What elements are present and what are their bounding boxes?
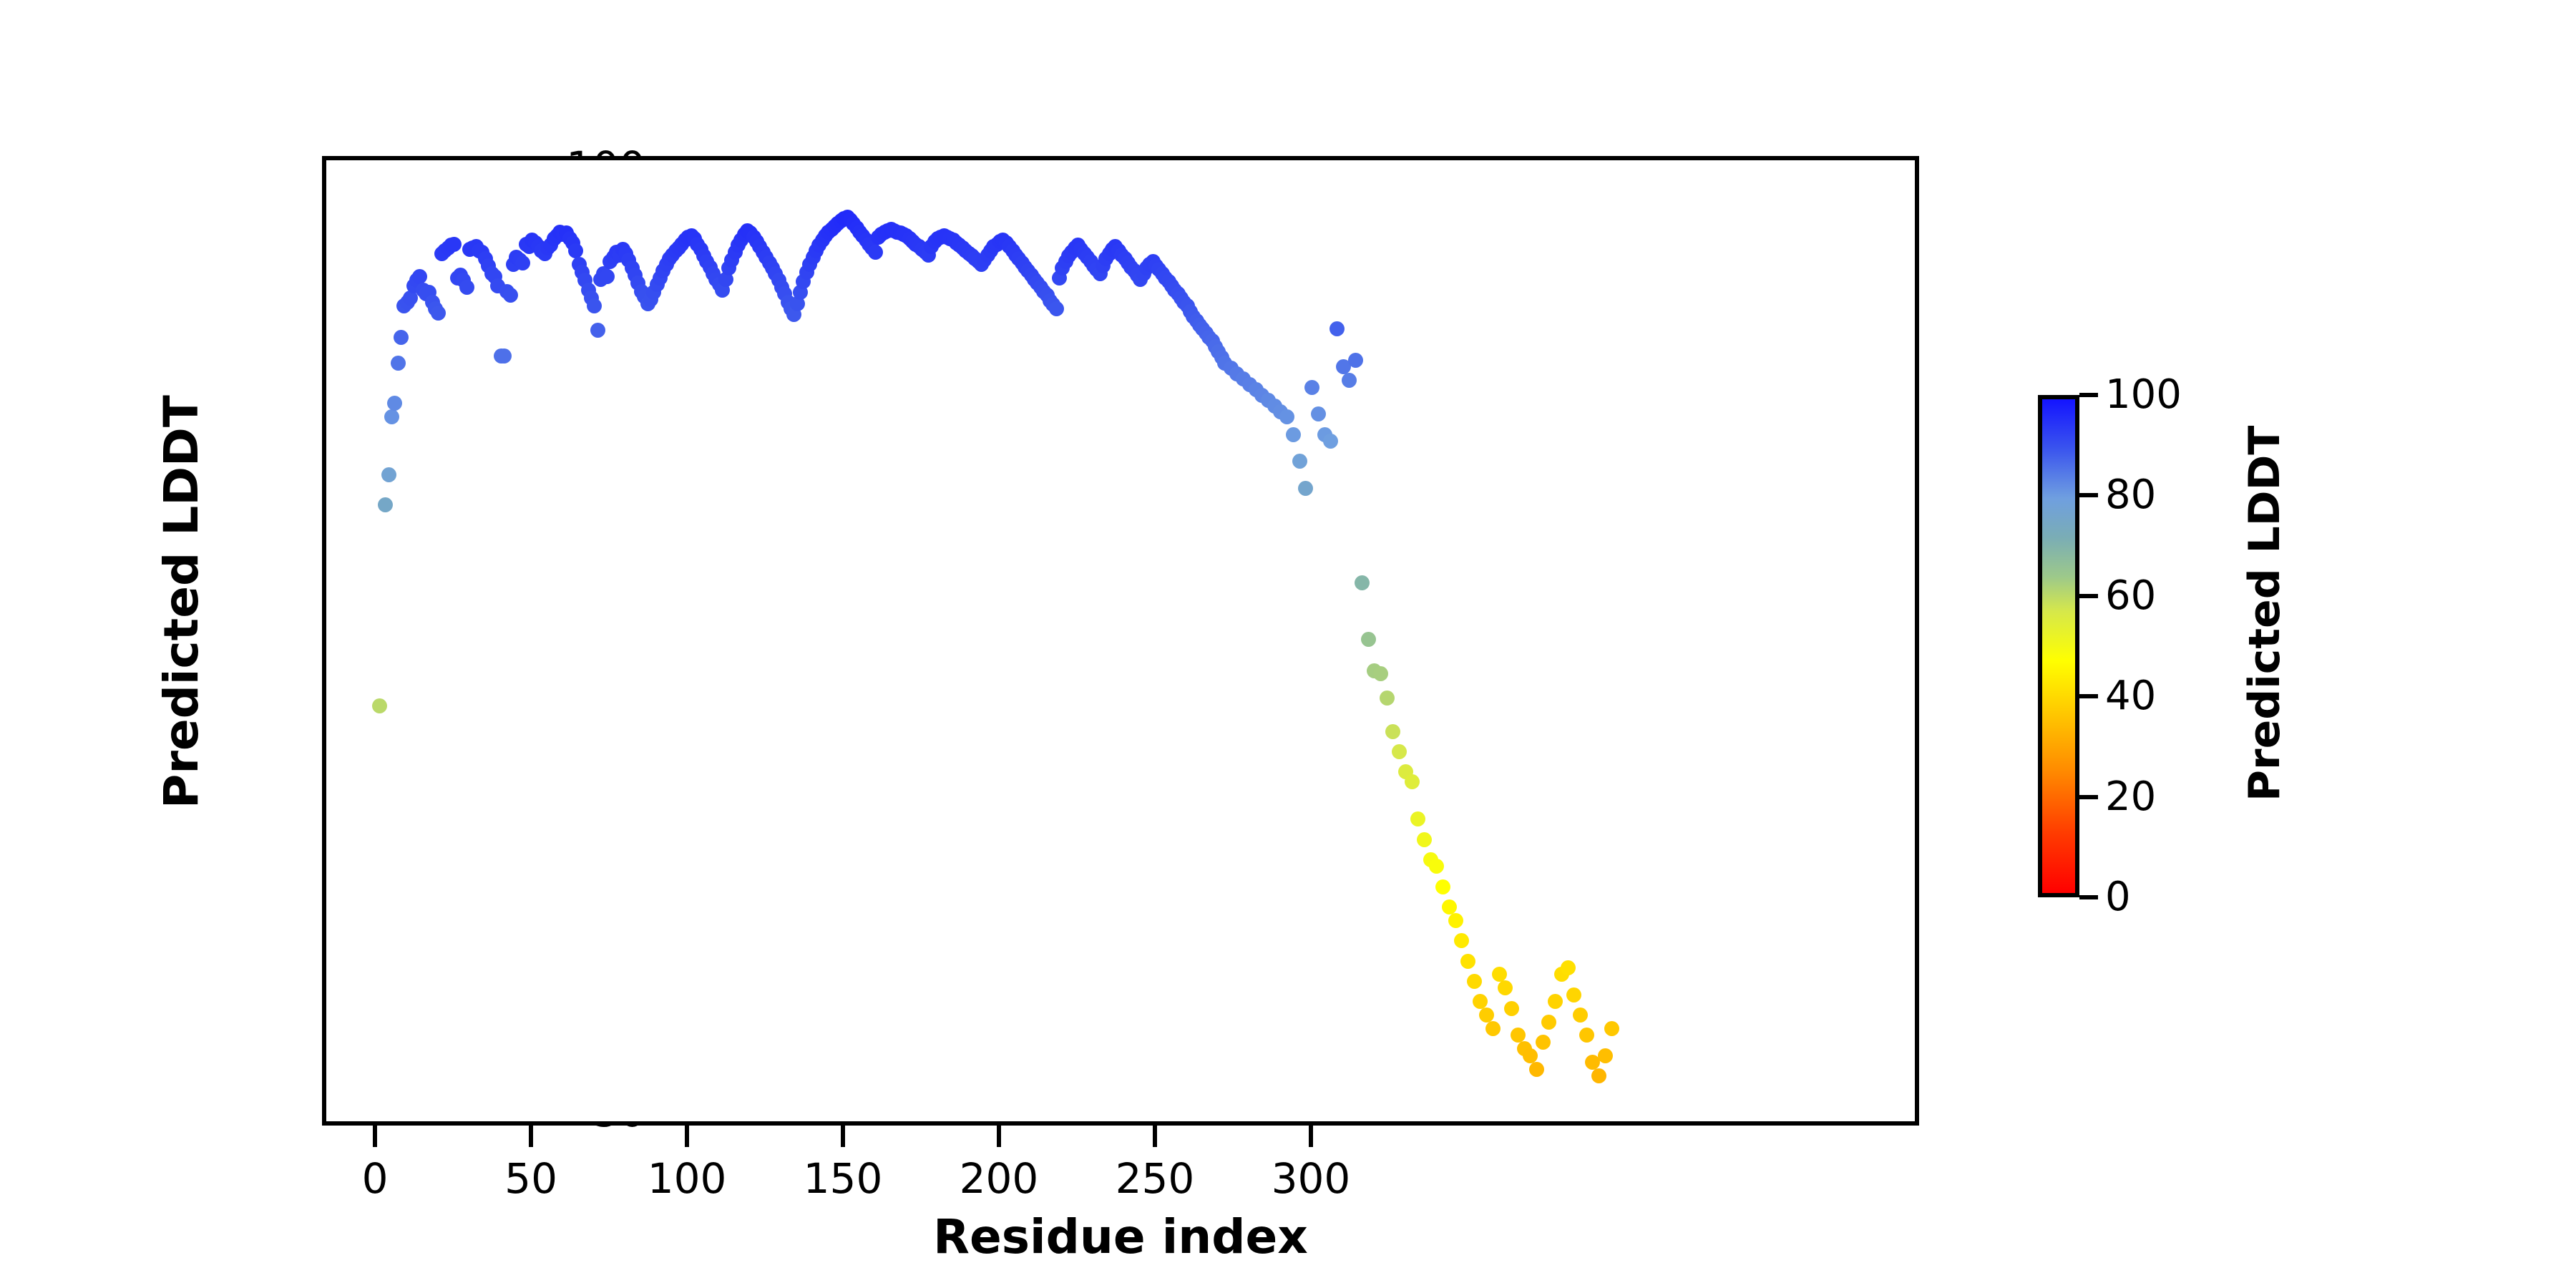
scatter-point: [1485, 1021, 1501, 1036]
x-tick-mark: [997, 1126, 1001, 1147]
colorbar-tick-mark: [2079, 594, 2098, 598]
x-tick-mark: [685, 1126, 689, 1147]
scatter-point: [1548, 994, 1563, 1009]
scatter-point: [384, 409, 399, 424]
scatter-point: [1579, 1028, 1594, 1043]
scatter-point: [1467, 974, 1482, 989]
scatter-point: [587, 298, 602, 313]
scatter-point: [1536, 1035, 1551, 1050]
scatter-point: [1454, 933, 1469, 948]
scatter-point: [503, 288, 518, 303]
scatter-point: [568, 243, 583, 258]
x-tick-mark: [373, 1126, 377, 1147]
scatter-point: [1330, 321, 1345, 336]
x-axis-label: Residue index: [322, 1209, 1919, 1264]
scatter-point: [1598, 1048, 1613, 1063]
x-tick-mark: [529, 1126, 533, 1147]
plot-axes: [322, 156, 1919, 1126]
scatter-point: [1479, 1008, 1494, 1023]
x-tick-label: 0: [318, 1154, 432, 1203]
scatter-point: [1429, 859, 1444, 874]
scatter-point: [387, 396, 402, 411]
scatter-point: [1323, 434, 1338, 449]
colorbar-tick-label: 40: [2105, 673, 2156, 719]
x-tick-label: 150: [786, 1154, 900, 1203]
scatter-point: [1498, 980, 1513, 995]
colorbar-tick-label: 100: [2105, 371, 2182, 418]
scatter-point: [1473, 994, 1488, 1009]
figure-canvas: 30405060708090100 050100150200250300 Res…: [0, 0, 2576, 1288]
scatter-point: [1292, 454, 1307, 469]
scatter-point: [1566, 987, 1581, 1002]
colorbar-tick-mark: [2079, 795, 2098, 799]
scatter-point: [391, 356, 406, 371]
x-tick-label: 200: [942, 1154, 1056, 1203]
scatter-point: [1342, 373, 1357, 388]
scatter-point: [1380, 691, 1395, 706]
scatter-point: [1591, 1068, 1606, 1083]
scatter-point: [1561, 960, 1576, 975]
scatter-point: [1504, 1001, 1519, 1016]
scatter-point: [1361, 632, 1376, 647]
scatter-point: [1049, 301, 1064, 316]
scatter-point: [1492, 967, 1507, 982]
scatter-point: [372, 698, 387, 713]
scatter-point: [1304, 380, 1319, 395]
scatter-plot-area: [326, 160, 1915, 1121]
colorbar-tick-mark: [2079, 493, 2098, 497]
scatter-point: [868, 245, 883, 260]
colorbar-tick-mark: [2079, 694, 2098, 698]
x-tick-mark: [1309, 1126, 1313, 1147]
scatter-point: [1417, 832, 1432, 847]
colorbar-tick-label: 80: [2105, 472, 2156, 518]
colorbar-label: Predicted LDDT: [2240, 426, 2290, 801]
scatter-point: [447, 237, 462, 252]
x-tick-mark: [841, 1126, 845, 1147]
scatter-point: [431, 306, 446, 321]
scatter-point: [1298, 481, 1313, 496]
scatter-point: [600, 269, 615, 284]
scatter-point: [378, 497, 393, 512]
scatter-point: [1405, 774, 1420, 789]
colorbar-tick-label: 20: [2105, 774, 2156, 820]
scatter-point: [1529, 1062, 1544, 1077]
scatter-point: [1392, 744, 1407, 759]
scatter-point: [1385, 724, 1400, 739]
colorbar-tick-label: 60: [2105, 572, 2156, 619]
scatter-point: [1286, 427, 1301, 442]
scatter-point: [590, 323, 605, 338]
colorbar-gradient: [2042, 399, 2075, 893]
colorbar: [2038, 395, 2079, 897]
scatter-point: [381, 467, 396, 482]
scatter-point: [394, 330, 409, 345]
scatter-point: [1511, 1028, 1526, 1043]
y-axis-label: Predicted LDDT: [154, 395, 209, 809]
scatter-point: [1460, 954, 1475, 969]
scatter-point: [497, 348, 512, 364]
scatter-point: [459, 280, 474, 295]
scatter-point: [1523, 1048, 1538, 1063]
x-tick-mark: [1153, 1126, 1157, 1147]
scatter-point: [1355, 575, 1370, 590]
scatter-point: [1604, 1021, 1619, 1036]
colorbar-tick-label: 0: [2105, 874, 2131, 920]
scatter-point: [1573, 1008, 1588, 1023]
x-tick-label: 250: [1098, 1154, 1212, 1203]
colorbar-tick-mark: [2079, 393, 2098, 397]
scatter-point: [515, 255, 530, 270]
scatter-point: [1410, 811, 1425, 826]
scatter-point: [1279, 409, 1294, 424]
scatter-point: [1541, 1015, 1556, 1030]
scatter-point: [1311, 406, 1326, 421]
x-tick-label: 100: [630, 1154, 744, 1203]
x-tick-label: 300: [1254, 1154, 1368, 1203]
scatter-point: [1448, 913, 1463, 928]
scatter-point: [412, 269, 427, 284]
colorbar-tick-mark: [2079, 895, 2098, 899]
scatter-point: [1442, 899, 1457, 914]
scatter-point: [1373, 666, 1388, 681]
scatter-point: [1348, 353, 1363, 368]
scatter-point: [1435, 879, 1450, 894]
x-tick-label: 50: [474, 1154, 588, 1203]
